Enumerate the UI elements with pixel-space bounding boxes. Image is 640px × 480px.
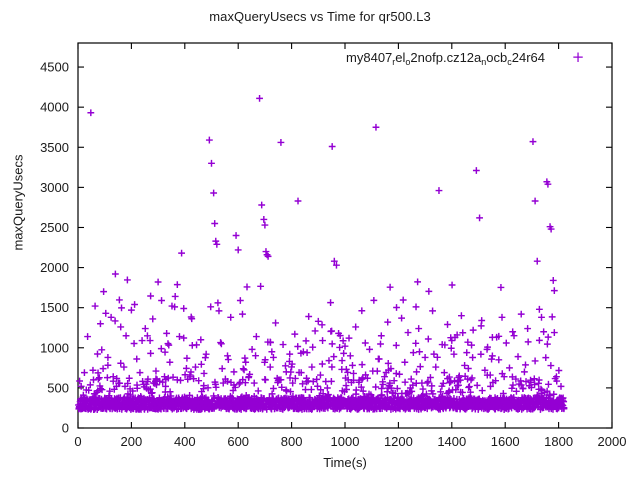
data-point-marker bbox=[506, 364, 513, 371]
data-point-marker bbox=[547, 362, 554, 369]
data-point-marker bbox=[252, 352, 259, 359]
x-tick-label: 800 bbox=[281, 434, 303, 449]
data-point-marker bbox=[408, 376, 415, 383]
data-point-marker bbox=[244, 284, 251, 291]
x-tick-label: 1200 bbox=[384, 434, 413, 449]
data-point-marker bbox=[215, 299, 222, 306]
data-point-marker bbox=[451, 351, 458, 358]
data-point-marker bbox=[262, 222, 269, 229]
data-point-marker bbox=[503, 340, 510, 347]
data-point-marker bbox=[509, 328, 516, 335]
data-point-marker bbox=[262, 377, 269, 384]
data-point-marker bbox=[236, 380, 243, 387]
data-point-marker bbox=[239, 311, 246, 318]
data-point-marker bbox=[329, 340, 336, 347]
data-point-marker bbox=[280, 341, 287, 348]
data-point-marker bbox=[258, 202, 265, 209]
data-point-marker bbox=[147, 350, 154, 357]
data-point-marker bbox=[463, 349, 470, 356]
data-point-marker bbox=[193, 341, 200, 348]
data-point-marker bbox=[401, 359, 408, 366]
data-point-marker bbox=[425, 336, 432, 343]
data-point-marker bbox=[90, 377, 97, 384]
data-point-marker bbox=[256, 95, 263, 102]
data-point-marker bbox=[339, 357, 346, 364]
data-point-marker bbox=[429, 308, 436, 315]
data-point-marker bbox=[441, 369, 448, 376]
data-point-marker bbox=[469, 354, 476, 361]
data-point-marker bbox=[112, 318, 119, 325]
y-tick-label: 0 bbox=[62, 421, 69, 436]
data-point-marker bbox=[352, 324, 359, 331]
data-point-marker bbox=[393, 304, 400, 311]
y-tick-label: 3500 bbox=[40, 140, 69, 155]
data-point-marker bbox=[495, 356, 502, 363]
data-point-marker bbox=[282, 362, 289, 369]
data-point-marker bbox=[133, 356, 140, 363]
data-point-marker bbox=[128, 307, 135, 314]
data-point-marker bbox=[534, 258, 541, 265]
data-point-marker bbox=[328, 328, 335, 335]
data-point-marker bbox=[350, 370, 357, 377]
data-point-marker bbox=[384, 319, 391, 326]
data-point-marker bbox=[312, 328, 319, 335]
data-point-marker bbox=[511, 332, 518, 339]
data-point-marker bbox=[402, 379, 409, 386]
x-axis-label: Time(s) bbox=[78, 455, 612, 470]
data-point-marker bbox=[117, 324, 124, 331]
data-point-marker bbox=[166, 359, 173, 366]
data-point-marker bbox=[235, 247, 242, 254]
data-point-marker bbox=[142, 325, 149, 332]
data-point-marker bbox=[532, 198, 539, 205]
data-point-marker bbox=[165, 342, 172, 349]
data-point-marker bbox=[522, 361, 529, 368]
data-point-marker bbox=[536, 337, 543, 344]
data-point-marker bbox=[123, 332, 130, 339]
data-point-marker bbox=[474, 382, 481, 389]
data-point-marker bbox=[153, 368, 160, 375]
data-point-marker bbox=[291, 331, 298, 338]
data-point-marker bbox=[287, 369, 294, 376]
data-point-marker bbox=[242, 359, 249, 366]
data-point-marker bbox=[488, 356, 495, 363]
x-tick-label: 400 bbox=[174, 434, 196, 449]
data-point-marker bbox=[324, 385, 331, 392]
data-point-marker bbox=[216, 308, 223, 315]
data-point-marker bbox=[329, 364, 336, 371]
data-point-marker bbox=[213, 241, 220, 248]
data-point-marker bbox=[478, 351, 485, 358]
data-point-marker bbox=[544, 341, 551, 348]
data-point-marker bbox=[412, 340, 419, 347]
data-point-marker bbox=[217, 339, 224, 346]
data-point-marker bbox=[286, 351, 293, 358]
data-point-marker bbox=[373, 124, 380, 131]
y-tick-label: 2000 bbox=[40, 260, 69, 275]
data-point-marker bbox=[370, 297, 377, 304]
data-point-marker bbox=[295, 198, 302, 205]
y-tick-label: 4500 bbox=[40, 60, 69, 75]
data-point-marker bbox=[476, 214, 483, 221]
data-point-marker bbox=[531, 375, 538, 382]
data-point-marker bbox=[206, 137, 213, 144]
data-point-marker bbox=[241, 366, 248, 373]
data-point-marker bbox=[540, 328, 547, 335]
x-tick-label: 200 bbox=[121, 434, 143, 449]
data-point-marker bbox=[304, 349, 311, 356]
data-point-marker bbox=[104, 374, 111, 381]
data-point-marker bbox=[264, 251, 271, 258]
data-point-marker bbox=[165, 340, 172, 347]
data-point-marker bbox=[498, 284, 505, 291]
data-point-marker bbox=[555, 367, 562, 374]
data-point-marker bbox=[336, 344, 343, 351]
data-point-marker bbox=[137, 369, 144, 376]
data-point-marker bbox=[158, 345, 165, 352]
data-point-marker bbox=[117, 360, 124, 367]
data-point-marker bbox=[317, 372, 324, 379]
x-tick-label: 1000 bbox=[331, 434, 360, 449]
data-point-marker bbox=[155, 279, 162, 286]
data-point-marker bbox=[549, 313, 556, 320]
data-point-marker bbox=[253, 333, 260, 340]
data-point-marker bbox=[340, 350, 347, 357]
data-point-marker bbox=[362, 340, 369, 347]
data-point-marker bbox=[326, 357, 333, 364]
data-point-marker bbox=[177, 377, 184, 384]
data-point-marker bbox=[542, 354, 549, 361]
data-point-marker bbox=[97, 320, 104, 327]
data-point-marker bbox=[96, 374, 103, 381]
data-point-marker bbox=[202, 354, 209, 361]
data-point-marker bbox=[530, 138, 537, 145]
data-point-marker bbox=[558, 383, 565, 390]
data-point-marker bbox=[163, 330, 170, 337]
data-point-marker bbox=[272, 320, 279, 327]
data-point-marker bbox=[227, 314, 234, 321]
y-axis-label: maxQueryUsecs bbox=[11, 133, 26, 273]
data-point-marker bbox=[347, 352, 354, 359]
data-point-marker bbox=[87, 109, 94, 116]
data-point-marker bbox=[270, 385, 277, 392]
data-point-marker bbox=[378, 332, 385, 339]
data-point-marker bbox=[184, 355, 191, 362]
data-point-marker bbox=[303, 338, 310, 345]
data-point-marker bbox=[319, 321, 326, 328]
data-point-marker bbox=[178, 250, 185, 257]
data-point-marker bbox=[489, 352, 496, 359]
data-point-marker bbox=[400, 297, 407, 304]
data-point-marker bbox=[315, 318, 322, 325]
data-point-marker bbox=[448, 345, 455, 352]
data-point-marker bbox=[550, 277, 557, 284]
data-point-marker bbox=[330, 353, 337, 360]
x-tick-label: 1400 bbox=[437, 434, 466, 449]
y-tick-label: 1500 bbox=[40, 300, 69, 315]
data-point-marker bbox=[479, 387, 486, 394]
data-point-marker bbox=[393, 370, 400, 377]
data-point-marker bbox=[314, 383, 321, 390]
data-point-marker bbox=[510, 382, 517, 389]
data-point-marker bbox=[162, 349, 169, 356]
data-point-marker bbox=[116, 297, 123, 304]
scatter-plot-canvas: 0200400600800100012001400160018002000050… bbox=[0, 0, 640, 480]
y-tick-label: 3000 bbox=[40, 180, 69, 195]
data-point-marker bbox=[131, 301, 138, 308]
data-point-marker bbox=[225, 356, 232, 363]
data-points-group bbox=[75, 95, 567, 413]
data-point-marker bbox=[207, 303, 214, 310]
data-point-marker bbox=[149, 316, 156, 323]
data-point-marker bbox=[444, 321, 451, 328]
data-point-marker bbox=[346, 335, 353, 342]
data-point-marker bbox=[473, 167, 480, 174]
data-point-marker bbox=[329, 143, 336, 150]
data-point-marker bbox=[211, 220, 218, 227]
x-tick-label: 1800 bbox=[544, 434, 573, 449]
data-point-marker bbox=[208, 160, 215, 167]
data-point-marker bbox=[251, 380, 258, 387]
data-point-marker bbox=[268, 348, 275, 355]
data-point-marker bbox=[372, 384, 379, 391]
data-point-marker bbox=[278, 139, 285, 146]
data-point-marker bbox=[414, 278, 421, 285]
data-point-marker bbox=[328, 378, 335, 385]
data-point-marker bbox=[551, 287, 558, 294]
data-point-marker bbox=[525, 338, 532, 345]
data-point-marker bbox=[518, 311, 525, 318]
data-point-marker bbox=[176, 333, 183, 340]
data-point-marker bbox=[260, 216, 267, 223]
data-point-marker bbox=[192, 364, 199, 371]
x-tick-label: 0 bbox=[74, 434, 81, 449]
data-point-marker bbox=[417, 363, 424, 370]
data-point-marker bbox=[76, 378, 83, 385]
data-point-marker bbox=[309, 344, 316, 351]
data-point-marker bbox=[249, 346, 256, 353]
y-tick-label: 4000 bbox=[40, 100, 69, 115]
data-point-marker bbox=[410, 349, 417, 356]
data-point-marker bbox=[416, 348, 423, 355]
data-point-marker bbox=[174, 281, 181, 288]
data-point-marker bbox=[521, 368, 528, 375]
data-point-marker bbox=[131, 340, 138, 347]
data-point-marker bbox=[118, 304, 125, 311]
data-point-marker bbox=[405, 329, 412, 336]
data-point-marker bbox=[396, 371, 403, 378]
data-point-marker bbox=[183, 365, 190, 372]
data-point-marker bbox=[319, 361, 326, 368]
data-point-marker bbox=[319, 337, 326, 344]
data-point-marker bbox=[470, 327, 477, 334]
data-point-marker bbox=[126, 375, 133, 382]
data-point-marker bbox=[308, 386, 315, 393]
data-point-marker bbox=[305, 313, 312, 320]
data-point-marker bbox=[233, 232, 240, 239]
data-point-marker bbox=[172, 293, 179, 300]
data-point-marker bbox=[92, 303, 99, 310]
data-point-marker bbox=[425, 288, 432, 295]
x-tick-label: 600 bbox=[227, 434, 249, 449]
data-point-marker bbox=[420, 386, 427, 393]
data-point-marker bbox=[100, 288, 107, 295]
data-point-marker bbox=[197, 336, 204, 343]
data-point-marker bbox=[398, 315, 405, 322]
data-point-marker bbox=[449, 282, 456, 289]
data-point-marker bbox=[387, 284, 394, 291]
data-point-marker bbox=[270, 354, 277, 361]
data-point-marker bbox=[377, 341, 384, 348]
data-point-marker bbox=[100, 365, 107, 372]
data-point-marker bbox=[105, 362, 112, 369]
data-point-marker bbox=[241, 355, 248, 362]
data-point-marker bbox=[422, 354, 429, 361]
data-point-marker bbox=[112, 271, 119, 278]
data-point-marker bbox=[349, 362, 356, 369]
data-point-marker bbox=[105, 354, 112, 361]
data-point-marker bbox=[359, 361, 366, 368]
data-point-marker bbox=[499, 314, 506, 321]
data-point-marker bbox=[224, 352, 231, 359]
data-point-marker bbox=[302, 386, 309, 393]
data-point-marker bbox=[545, 381, 552, 388]
data-point-marker bbox=[393, 342, 400, 349]
data-point-marker bbox=[108, 314, 115, 321]
data-point-marker bbox=[366, 346, 373, 353]
data-point-marker bbox=[218, 340, 225, 347]
data-point-marker bbox=[551, 329, 558, 336]
data-point-marker bbox=[124, 277, 131, 284]
data-point-marker bbox=[458, 312, 465, 319]
y-tick-label: 500 bbox=[47, 380, 69, 395]
data-point-marker bbox=[255, 388, 262, 395]
data-point-marker bbox=[432, 364, 439, 371]
data-point-marker bbox=[431, 351, 438, 358]
data-point-marker bbox=[257, 283, 264, 290]
data-point-marker bbox=[515, 353, 522, 360]
data-point-marker bbox=[538, 314, 545, 321]
x-tick-label: 1600 bbox=[491, 434, 520, 449]
y-tick-label: 1000 bbox=[40, 340, 69, 355]
data-point-marker bbox=[180, 335, 187, 342]
data-point-marker bbox=[102, 310, 109, 317]
data-point-marker bbox=[84, 333, 91, 340]
data-point-marker bbox=[478, 322, 485, 329]
data-point-marker bbox=[327, 299, 334, 306]
data-point-marker bbox=[545, 334, 552, 341]
data-point-marker bbox=[198, 361, 205, 368]
data-point-marker bbox=[413, 368, 420, 375]
data-point-marker bbox=[434, 354, 441, 361]
data-point-marker bbox=[81, 369, 88, 376]
data-point-marker bbox=[121, 364, 128, 371]
data-point-marker bbox=[203, 351, 210, 358]
data-point-marker bbox=[308, 364, 315, 371]
data-point-marker bbox=[375, 356, 382, 363]
data-point-marker bbox=[466, 383, 473, 390]
data-point-marker bbox=[158, 297, 165, 304]
data-point-marker bbox=[536, 377, 543, 384]
data-point-marker bbox=[78, 383, 85, 390]
data-point-marker bbox=[201, 370, 208, 377]
data-point-marker bbox=[358, 307, 365, 314]
data-point-marker bbox=[524, 325, 531, 332]
data-point-marker bbox=[378, 385, 385, 392]
data-point-marker bbox=[294, 343, 301, 350]
data-point-marker bbox=[212, 238, 219, 245]
data-point-marker bbox=[536, 306, 543, 313]
data-point-marker bbox=[240, 365, 247, 372]
data-point-marker bbox=[374, 368, 381, 375]
data-point-marker bbox=[415, 325, 422, 332]
data-point-marker bbox=[87, 381, 94, 388]
chart-figure: maxQueryUsecs vs Time for qr500.L3 my840… bbox=[0, 0, 640, 480]
y-tick-label: 2500 bbox=[40, 220, 69, 235]
data-point-marker bbox=[98, 346, 105, 353]
data-point-marker bbox=[267, 364, 274, 371]
data-point-marker bbox=[94, 351, 101, 358]
data-point-marker bbox=[139, 337, 146, 344]
data-point-marker bbox=[237, 297, 244, 304]
plot-frame bbox=[78, 43, 612, 428]
data-point-marker bbox=[384, 388, 391, 395]
data-point-marker bbox=[550, 391, 557, 398]
data-point-marker bbox=[436, 187, 443, 194]
data-point-marker bbox=[532, 358, 539, 365]
data-point-marker bbox=[210, 190, 217, 197]
data-point-marker bbox=[231, 368, 238, 375]
data-point-marker bbox=[147, 293, 154, 300]
data-point-marker bbox=[95, 376, 102, 383]
data-point-marker bbox=[219, 365, 226, 372]
data-point-marker bbox=[523, 378, 530, 385]
data-point-marker bbox=[413, 303, 420, 310]
x-tick-label: 2000 bbox=[598, 434, 627, 449]
data-point-marker bbox=[180, 305, 187, 312]
